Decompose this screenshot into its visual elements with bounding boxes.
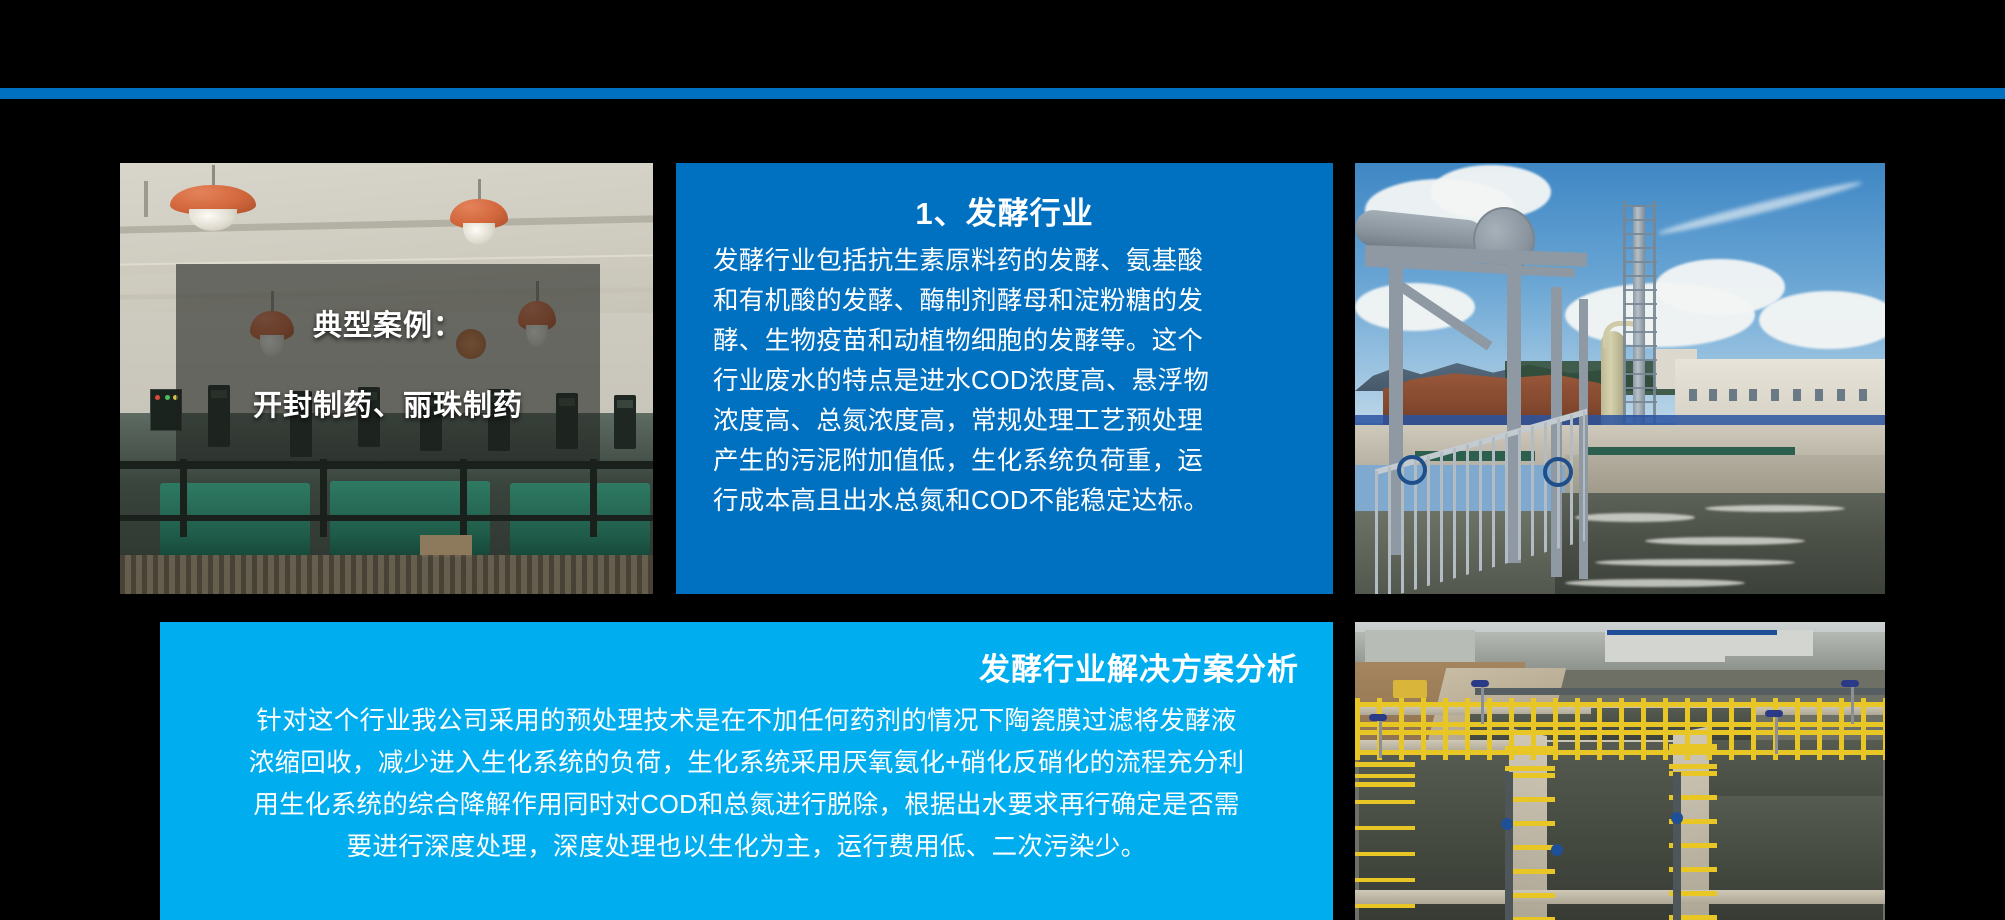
body-line: 要进行深度处理，深度处理也以生化为主，运行费用低、二次污染少。 [160,826,1333,868]
background-building [1365,630,1475,664]
light-pole [1481,684,1484,724]
body-line: 针对这个行业我公司采用的预处理技术是在不加任何药剂的情况下陶瓷膜过滤将发酵液 [160,700,1333,742]
drop-pipe [1505,772,1513,920]
photo-wwtp-outdoor [1355,163,1885,594]
blue-valve [1551,844,1563,856]
valve-handwheel [1543,457,1573,487]
lattice-tower [1623,201,1657,431]
body-line: 酵、生物疫苗和动植物细胞的发酵等。这个 [713,321,1296,361]
blue-valve [1501,818,1513,830]
yellow-railing [1355,726,1885,760]
railing-post [460,459,467,537]
air-header-pipe [1475,688,1885,695]
blue-valve [1671,812,1683,824]
body-line: 行业废水的特点是进水COD浓度高、悬浮物 [713,361,1296,401]
railing-post [320,459,327,537]
light-fixture [1369,714,1387,721]
blue-roof-trim [1607,630,1777,635]
solution-analysis-panel: 发酵行业解决方案分析 针对这个行业我公司采用的预处理技术是在不加任何药剂的情况下… [160,622,1333,920]
window [1793,389,1801,401]
floor-grating [120,555,653,594]
window [1815,389,1823,401]
lamp-stem [478,179,481,201]
blue-panel-title: 1、发酵行业 [676,188,1333,233]
body-line: 行成本高且出水总氮和COD不能稳定达标。 [713,481,1296,521]
body-line: 浓度高、总氮浓度高，常规处理工艺预处理 [713,401,1296,441]
light-fixture [1841,680,1859,687]
photo-aeration-basins [1355,622,1885,920]
basin-front-wall [1355,890,1885,904]
foam-streak [1645,537,1805,545]
light-pole [1775,714,1778,754]
railing-post [590,459,597,537]
electrical-conduit [144,181,148,217]
window [1709,389,1717,401]
body-line: 发酵行业包括抗生素原料药的发酵、氨基酸 [713,241,1296,281]
top-accent-rule [0,88,2005,99]
cyan-panel-body: 针对这个行业我公司采用的预处理技术是在不加任何药剂的情况下陶瓷膜过滤将发酵液 浓… [160,700,1333,868]
foam-streak [1565,579,1745,587]
valve-handwheel [1397,455,1427,485]
window [1689,389,1697,401]
light-fixture [1765,710,1783,717]
body-line: 产生的污泥附加值低，生化系统负荷重，运 [713,441,1296,481]
photo-plant-interior: 典型案例： 开封制药、丽珠制药 [120,163,653,594]
blue-panel-body: 发酵行业包括抗生素原料药的发酵、氨基酸 和有机酸的发酵、酶制剂酵母和淀粉糖的发 … [713,241,1296,521]
window [1771,389,1779,401]
safety-railing [120,515,653,521]
fermentation-industry-panel: 1、发酵行业 发酵行业包括抗生素原料药的发酵、氨基酸 和有机酸的发酵、酶制剂酵母… [676,163,1333,594]
foam-streak [1595,559,1795,566]
wooden-crate [420,535,472,557]
body-line: 和有机酸的发酵、酶制剂酵母和淀粉糖的发 [713,281,1296,321]
body-line: 用生化系统的综合降解作用同时对COD和总氮进行脱除，根据出水要求再行确定是否需 [160,784,1333,826]
caption-line-2: 开封制药、丽珠制药 [253,382,523,424]
foam-streak [1575,513,1695,522]
window [1729,389,1737,401]
window [1837,389,1845,401]
pump-unit [614,395,636,449]
light-pole [1851,684,1854,724]
indicator-green [165,395,170,400]
light-fixture [1471,680,1489,687]
excavator-icon [1393,680,1427,698]
light-pole [1379,718,1382,758]
drop-pipe [1673,772,1681,920]
caption-line-1: 典型案例： [313,302,463,344]
railing-post [180,459,187,537]
safety-railing [120,461,653,469]
photo-caption: 典型案例： 开封制药、丽珠制药 [176,264,600,462]
cyan-panel-title: 发酵行业解决方案分析 [979,644,1299,689]
yellow-railing [1355,758,1415,908]
aeration-basin-water [1555,493,1885,594]
window [1859,389,1867,401]
window [1749,389,1757,401]
lamp-stem [212,165,215,187]
foam-streak [1705,505,1845,512]
body-line: 浓缩回收，减少进入生化系统的负荷，生化系统采用厌氧氨化+硝化反硝化的流程充分利 [160,742,1333,784]
indicator-red [155,395,160,400]
